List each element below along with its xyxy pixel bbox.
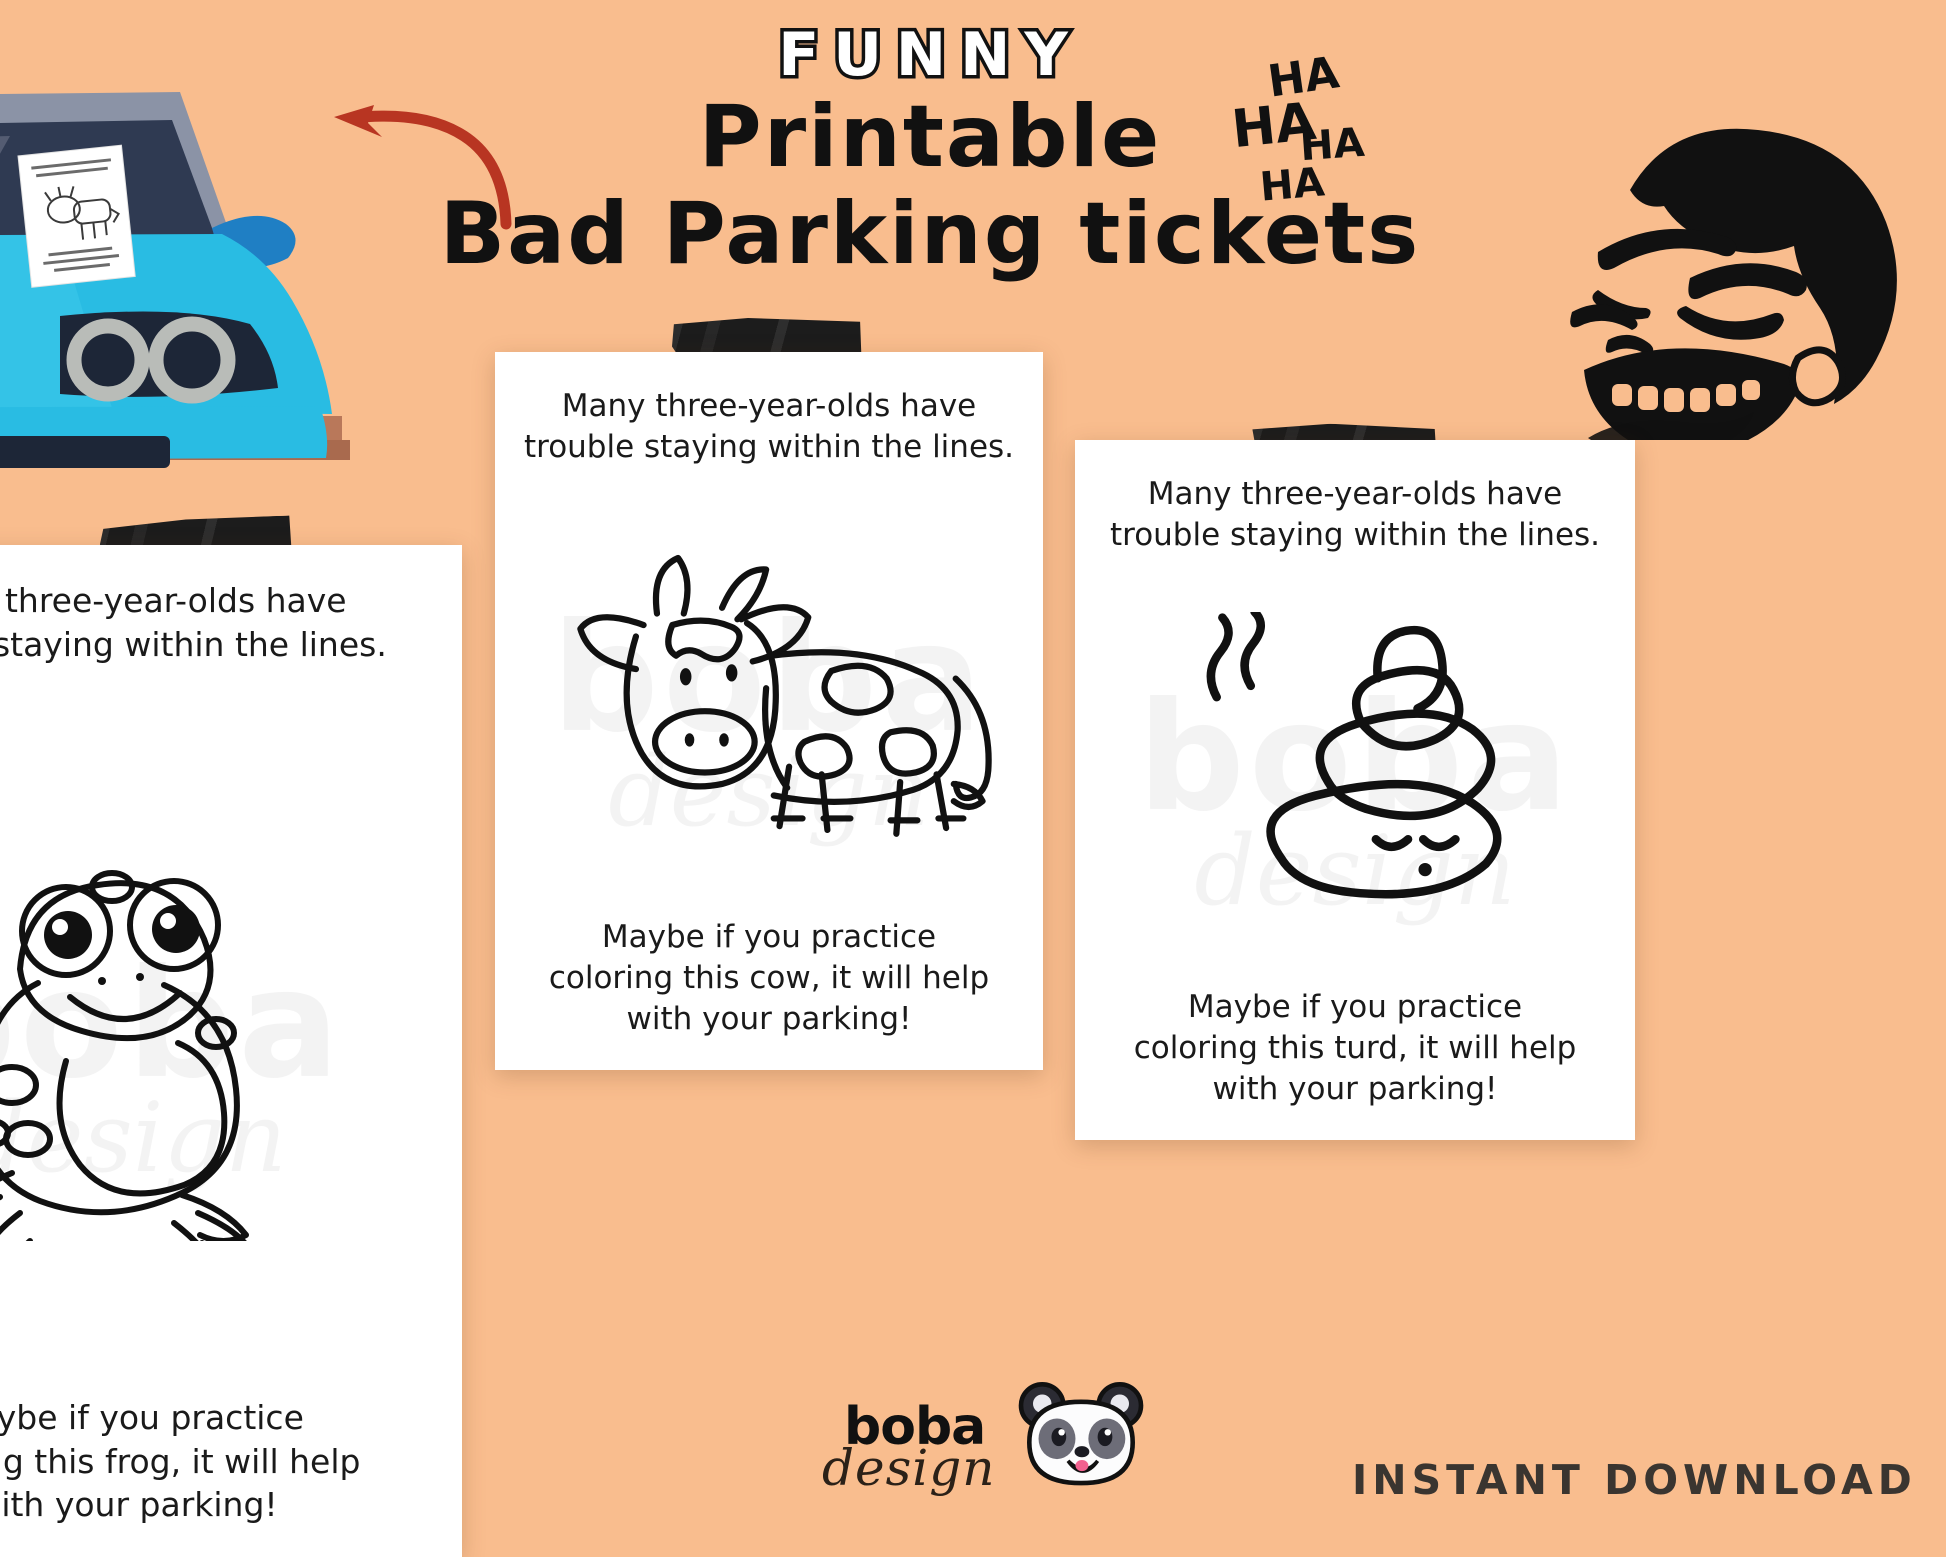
card-top-text: Many three-year-olds have trouble stayin… <box>524 386 1014 468</box>
ticket-card-frog[interactable]: boba design Many three-year-olds have tr… <box>0 545 462 1557</box>
ha-text-4: HA <box>1258 159 1326 210</box>
card-bottom-text: Maybe if you practice coloring this cow,… <box>549 917 989 1040</box>
laughing-man-illustration <box>1480 40 1946 440</box>
ticket-card-turd[interactable]: boba design Many three-year-olds have tr… <box>1075 440 1635 1140</box>
brand-wordmark: boba design <box>822 1379 1002 1497</box>
card-top-text: Many three-year-olds have trouble stayin… <box>0 579 387 666</box>
turd-coloring-illustration <box>1175 556 1535 987</box>
ticket-card-cow[interactable]: boba design Many three-year-olds have tr… <box>495 352 1043 1070</box>
curved-arrow-icon <box>318 100 518 230</box>
card-bottom-text: Maybe if you practice coloring this turd… <box>1134 987 1577 1110</box>
card-top-text: Many three-year-olds have trouble stayin… <box>1110 474 1600 556</box>
cow-coloring-illustration <box>544 468 994 917</box>
card-bottom-text: Maybe if you practice coloring this frog… <box>0 1396 360 1527</box>
brand-logo: boba design <box>822 1372 1162 1504</box>
poster-canvas: FUNNY Printable Bad Parking tickets HA H… <box>0 0 1946 1557</box>
panda-face-icon <box>1016 1376 1146 1500</box>
blue-car-illustration <box>0 48 370 468</box>
frog-coloring-illustration <box>0 666 336 1396</box>
brand-tagline: design <box>822 1439 995 1497</box>
instant-download-label: INSTANT DOWNLOAD <box>1352 1456 1917 1504</box>
